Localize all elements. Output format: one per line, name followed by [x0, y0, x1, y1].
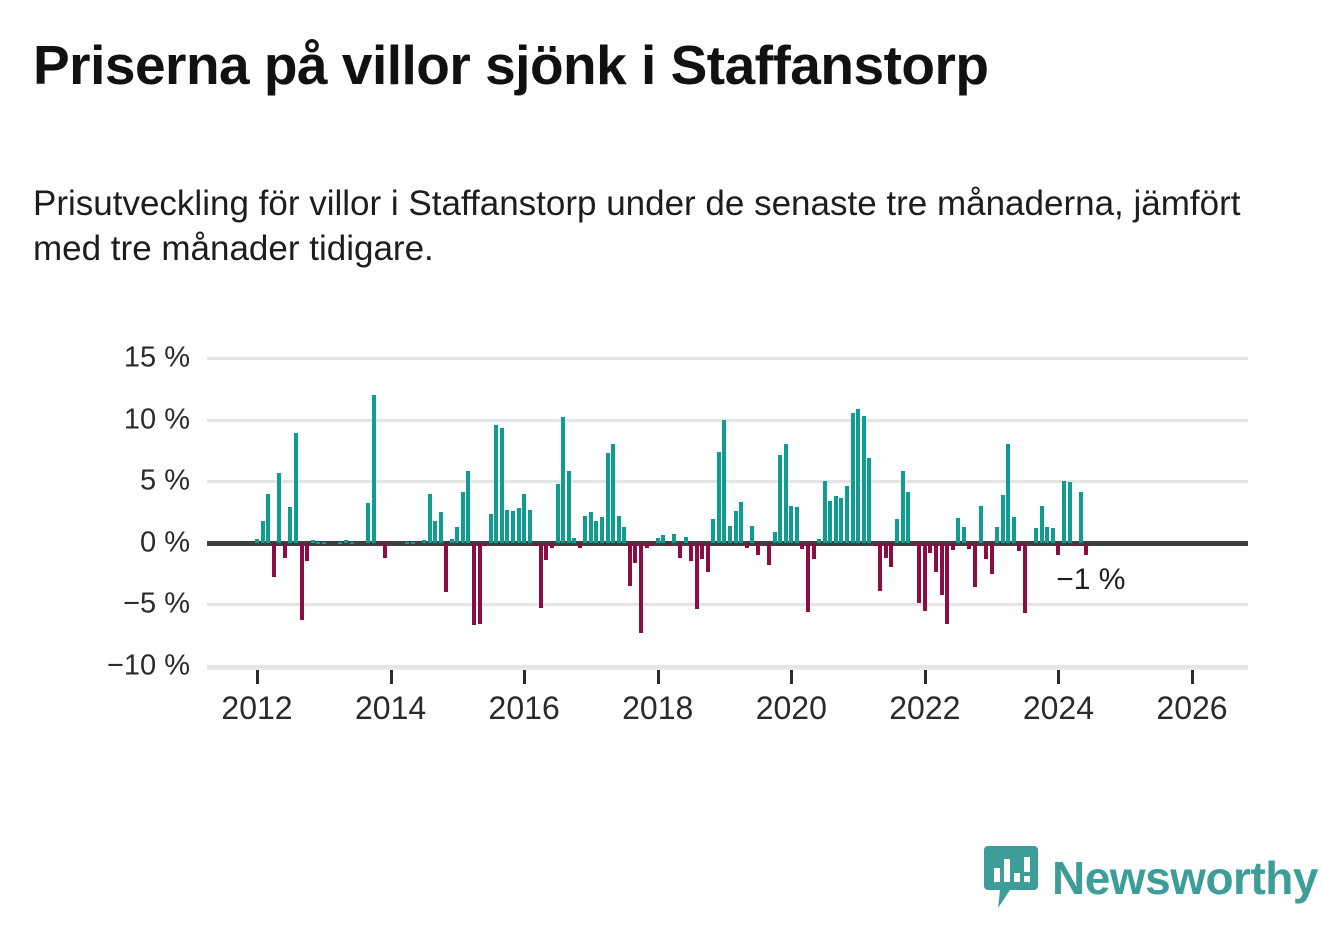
bar	[767, 543, 771, 565]
bar	[505, 510, 509, 543]
bar	[745, 543, 749, 548]
bar	[461, 492, 465, 543]
bar	[405, 542, 409, 544]
bar	[500, 428, 504, 543]
bar	[795, 507, 799, 543]
bar	[578, 543, 582, 548]
bar	[350, 542, 354, 544]
x-axis-tick	[1191, 670, 1194, 684]
newsworthy-logo: Newsworthy	[984, 846, 1318, 910]
bar	[428, 494, 432, 543]
bar	[739, 502, 743, 543]
bar	[550, 543, 554, 548]
x-axis-tick-label: 2016	[489, 690, 560, 727]
bar	[628, 543, 632, 586]
bar	[851, 413, 855, 542]
bar	[483, 543, 487, 547]
bar	[1023, 543, 1027, 613]
bar	[567, 471, 571, 542]
bar	[728, 526, 732, 543]
bar	[778, 455, 782, 542]
bar	[1056, 543, 1060, 555]
bar	[466, 471, 470, 542]
x-axis-tick	[924, 670, 927, 684]
chart-page: Priserna på villor sjönk i Staffanstorp …	[0, 0, 1322, 939]
gridline	[207, 665, 1248, 668]
bar	[923, 543, 927, 611]
bar	[784, 444, 788, 543]
bar	[633, 543, 637, 563]
bar	[383, 543, 387, 558]
bar	[377, 543, 381, 545]
x-axis-tick	[1057, 670, 1060, 684]
bar	[711, 519, 715, 542]
gridline	[207, 480, 1248, 483]
x-axis-tick	[790, 670, 793, 684]
bar	[828, 501, 832, 543]
bar	[561, 417, 565, 543]
bar	[489, 514, 493, 542]
bar	[583, 516, 587, 543]
x-axis-tick-label: 2012	[221, 690, 292, 727]
x-axis-tick-label: 2022	[889, 690, 960, 727]
bar	[366, 503, 370, 542]
bar	[967, 543, 971, 549]
x-axis-tick-label: 2014	[355, 690, 426, 727]
bar	[422, 540, 426, 542]
bar	[528, 510, 532, 543]
bar	[606, 453, 610, 543]
bar	[884, 543, 888, 558]
gridline	[207, 357, 1248, 360]
bar	[979, 506, 983, 543]
bar	[695, 543, 699, 610]
bar	[1068, 482, 1072, 542]
bar	[589, 512, 593, 543]
bar	[478, 543, 482, 624]
bar	[517, 508, 521, 542]
bar	[611, 444, 615, 543]
x-axis-tick	[256, 670, 259, 684]
bar	[288, 507, 292, 543]
bar	[800, 543, 804, 549]
bar	[556, 484, 560, 543]
bar	[901, 471, 905, 542]
bar	[639, 543, 643, 633]
bar	[895, 519, 899, 542]
last-value-annotation: −1 %	[1056, 563, 1125, 597]
bar	[995, 527, 999, 543]
bar	[661, 535, 665, 542]
bar	[444, 543, 448, 592]
chart-subtitle: Prisutveckling för villor i Staffanstorp…	[33, 182, 1293, 272]
bar	[700, 543, 704, 559]
bar	[1017, 543, 1021, 552]
bar	[372, 395, 376, 543]
bar	[912, 543, 916, 545]
bar	[817, 539, 821, 543]
bar	[906, 492, 910, 543]
bar	[862, 416, 866, 543]
bar	[322, 542, 326, 544]
x-axis-tick	[657, 670, 660, 684]
bar	[261, 521, 265, 543]
bar	[472, 543, 476, 626]
bar	[878, 543, 882, 591]
bar	[928, 543, 932, 553]
bar	[1079, 492, 1083, 543]
bar	[834, 496, 838, 543]
bar	[439, 512, 443, 543]
bar	[344, 540, 348, 542]
bar	[689, 543, 693, 561]
bar	[962, 527, 966, 543]
bar	[806, 543, 810, 612]
bar	[316, 542, 320, 544]
bar	[533, 543, 537, 547]
newsworthy-bar-chart-bubble-icon	[984, 846, 1038, 910]
bar	[1012, 517, 1016, 543]
bar	[572, 538, 576, 543]
bar	[300, 543, 304, 621]
y-axis-tick-label: −10 %	[70, 650, 190, 683]
bar	[622, 527, 626, 543]
y-axis-tick-label: 0 %	[70, 526, 190, 559]
bar	[1006, 444, 1010, 543]
bar	[756, 543, 760, 555]
bar	[1045, 527, 1049, 543]
bar	[889, 543, 893, 568]
bar	[272, 543, 276, 577]
bar	[867, 458, 871, 543]
x-axis-tick	[523, 670, 526, 684]
bar	[678, 543, 682, 558]
bar	[433, 521, 437, 543]
bar	[455, 527, 459, 543]
y-axis-tick-label: 15 %	[70, 342, 190, 375]
y-axis-tick-label: 10 %	[70, 403, 190, 436]
bar	[1051, 528, 1055, 543]
bar	[945, 543, 949, 624]
bar	[789, 506, 793, 543]
bar	[823, 481, 827, 543]
x-axis-tick-label: 2024	[1023, 690, 1094, 727]
bar	[311, 540, 315, 542]
bar	[650, 543, 654, 547]
bar	[750, 526, 754, 543]
y-axis-labels: 15 %10 %5 %0 %−5 %−10 %	[60, 0, 190, 939]
x-axis-tick-label: 2018	[622, 690, 693, 727]
bar	[305, 543, 309, 561]
y-axis-tick-label: −5 %	[70, 588, 190, 621]
x-axis-tick-label: 2020	[756, 690, 827, 727]
bar	[706, 543, 710, 573]
bar	[255, 539, 259, 543]
gridline	[207, 603, 1248, 606]
bar	[1073, 543, 1077, 547]
bar	[266, 494, 270, 543]
bar	[294, 433, 298, 543]
bar	[734, 511, 738, 543]
bar	[1001, 495, 1005, 543]
zero-line	[207, 541, 1248, 546]
bar	[283, 543, 287, 558]
x-axis-baseline	[207, 668, 1248, 670]
bar	[645, 543, 649, 548]
bar	[277, 473, 281, 543]
price-development-bar-chart: 15 %10 %5 %0 %−5 %−10 %20122014201620182…	[0, 0, 1322, 939]
bar	[951, 543, 955, 550]
bar	[1062, 481, 1066, 543]
bar	[1084, 543, 1088, 555]
y-axis-tick-label: 5 %	[70, 465, 190, 498]
bar	[494, 425, 498, 543]
bar	[845, 486, 849, 543]
bar	[1034, 528, 1038, 543]
bar	[984, 543, 988, 559]
newsworthy-wordmark: Newsworthy	[1052, 855, 1318, 901]
bar	[856, 409, 860, 543]
bar	[539, 543, 543, 608]
bar	[511, 511, 515, 543]
bar	[656, 538, 660, 543]
bar	[594, 521, 598, 543]
bar	[544, 543, 548, 560]
bar	[717, 452, 721, 543]
bar	[672, 534, 676, 543]
bar	[917, 543, 921, 603]
bar	[934, 543, 938, 573]
bar	[450, 539, 454, 543]
bar	[812, 543, 816, 559]
bar	[773, 532, 777, 543]
bar	[1040, 506, 1044, 543]
gridline	[207, 419, 1248, 422]
bar	[667, 543, 671, 547]
bar	[722, 420, 726, 543]
bar	[956, 518, 960, 543]
bar	[973, 543, 977, 587]
bar	[522, 494, 526, 543]
page-title: Priserna på villor sjönk i Staffanstorp	[33, 36, 1253, 95]
bar	[873, 543, 877, 547]
bar	[600, 517, 604, 543]
bar	[990, 543, 994, 574]
bar	[411, 542, 415, 544]
x-axis-tick-label: 2026	[1156, 690, 1227, 727]
bar	[684, 537, 688, 543]
bar	[338, 542, 342, 544]
x-axis-tick	[390, 670, 393, 684]
bar	[940, 543, 944, 595]
bar	[617, 516, 621, 543]
bar	[839, 498, 843, 542]
